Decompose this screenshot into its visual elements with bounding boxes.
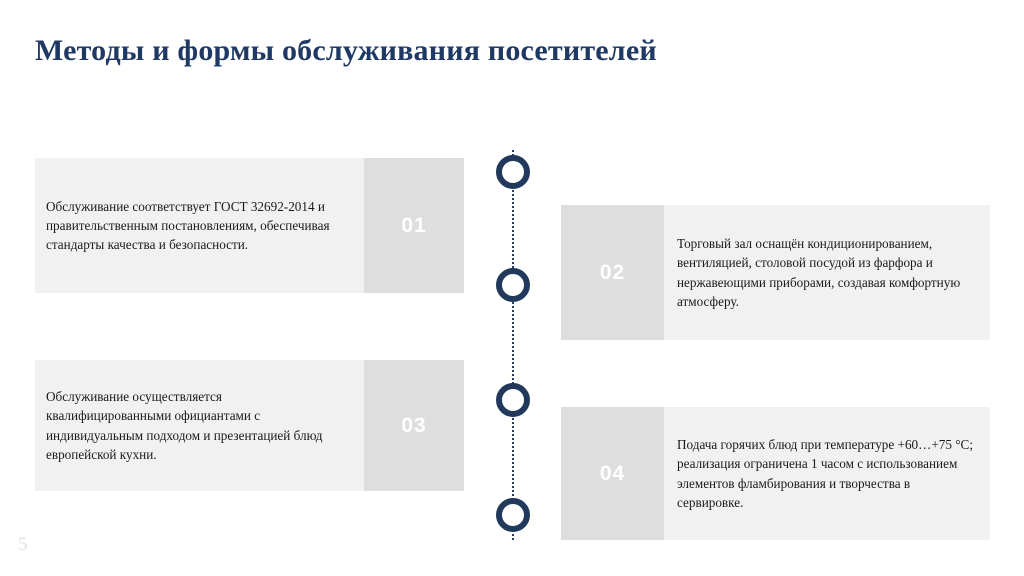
info-card-01: Обслуживание соответствует ГОСТ 32692-20… — [35, 158, 464, 293]
info-card-03-text-panel: Обслуживание осуществляется квалифициров… — [35, 360, 364, 491]
info-card-04-number: 04 — [600, 462, 625, 486]
info-card-04-text: Подача горячих блюд при температуре +60…… — [677, 435, 978, 512]
info-card-04: 04 Подача горячих блюд при температуре +… — [561, 407, 990, 540]
info-card-02-number: 02 — [600, 261, 625, 285]
timeline-node-1-circle-outline-icon — [496, 155, 530, 189]
timeline — [496, 150, 530, 540]
info-card-02: 02 Торговый зал оснащён кондиционировани… — [561, 205, 990, 340]
info-card-02-number-panel: 02 — [561, 205, 664, 340]
info-card-03-number-panel: 03 — [364, 360, 464, 491]
info-card-02-text-panel: Торговый зал оснащён кондиционированием,… — [664, 205, 990, 340]
info-card-03-text: Обслуживание осуществляется квалифициров… — [46, 387, 350, 464]
timeline-node-3-circle-outline-icon — [496, 383, 530, 417]
info-card-02-text: Торговый зал оснащён кондиционированием,… — [677, 234, 976, 311]
info-card-04-number-panel: 04 — [561, 407, 664, 540]
info-card-01-number-panel: 01 — [364, 158, 464, 293]
page-number: 5 — [18, 534, 28, 556]
info-card-01-text: Обслуживание соответствует ГОСТ 32692-20… — [46, 197, 350, 254]
page-title: Методы и формы обслуживания посетителей — [35, 34, 657, 68]
timeline-dotted-connector — [512, 150, 514, 540]
info-card-01-number: 01 — [401, 214, 426, 238]
info-card-03-number: 03 — [401, 414, 426, 438]
timeline-node-2-circle-outline-icon — [496, 268, 530, 302]
slide-canvas: Методы и формы обслуживания посетителей … — [0, 0, 1024, 576]
info-card-04-text-panel: Подача горячих блюд при температуре +60…… — [664, 407, 990, 540]
info-card-03: Обслуживание осуществляется квалифициров… — [35, 360, 464, 491]
timeline-node-4-circle-outline-icon — [496, 498, 530, 532]
info-card-01-text-panel: Обслуживание соответствует ГОСТ 32692-20… — [35, 158, 364, 293]
